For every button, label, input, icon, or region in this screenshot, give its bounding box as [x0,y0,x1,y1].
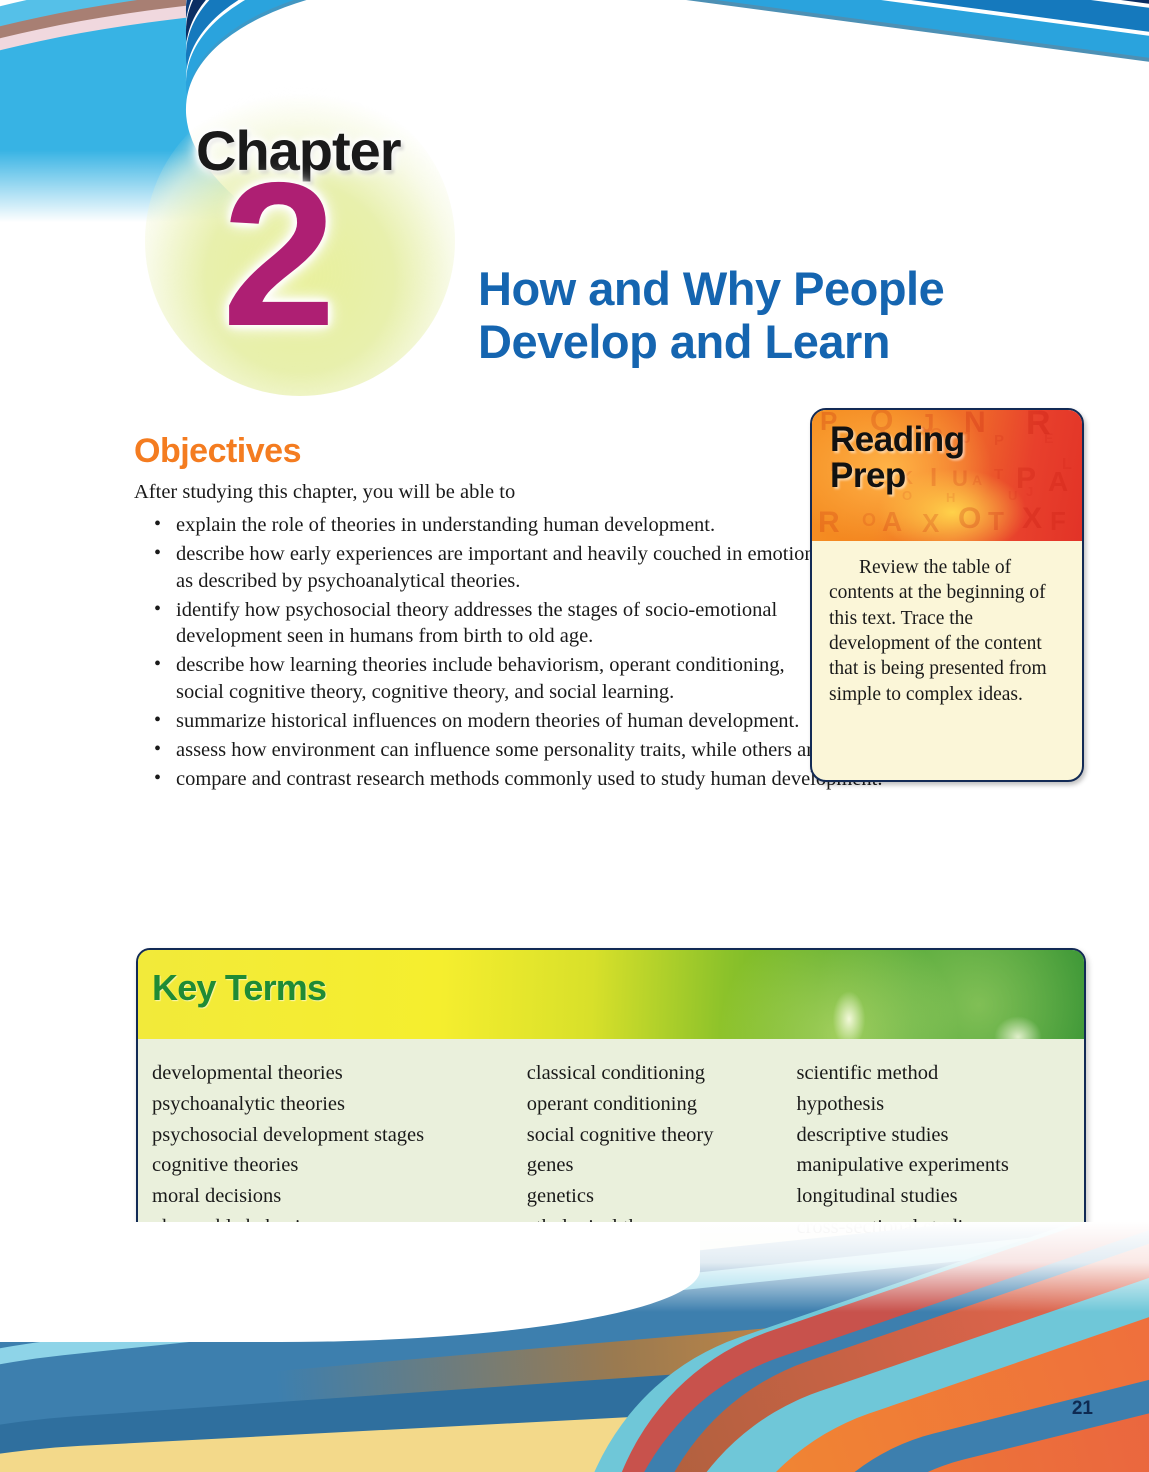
objective-item: • summarize historical influences on mod… [134,708,816,735]
decorative-letter: X [1022,502,1042,536]
bullet-icon: • [154,707,161,733]
bullet-icon: • [154,651,161,677]
decorative-letter: A [972,472,982,488]
objective-item: • explain the role of theories in unders… [134,512,816,539]
key-term: cognitive theories [152,1150,527,1181]
decorative-letter: E [1044,430,1053,446]
key-term: psychoanalytic theories [152,1089,527,1120]
key-terms-heading: Key Terms [152,967,326,1009]
key-term: classical conditioning [527,1058,797,1089]
bullet-icon: • [154,765,161,791]
chapter-number: 2 [222,152,332,357]
bottom-decorative-banner [0,1222,1149,1472]
reading-prep-title-line1: Reading [830,420,965,459]
objectives-intro: After studying this chapter, you will be… [134,481,515,504]
reading-prep-header: PQJNRxNOJPNzKIUATPAROAXOTXFEUJOHXL Readi… [812,410,1082,541]
objective-text: describe how learning theories include b… [176,654,785,703]
page-title: How and Why People Develop and Learn [478,263,1078,368]
reading-prep-body: Review the table of contents at the begi… [812,541,1082,707]
reading-prep-title: Reading Prep [830,422,965,494]
key-term: social cognitive theory [527,1120,797,1151]
decorative-letter: O [862,510,876,531]
decorative-letter: O [958,502,981,536]
decorative-letter: L [1062,456,1072,474]
objectives-heading: Objectives [134,432,301,471]
key-term: psychosocial development stages [152,1120,527,1151]
key-term: genetics [527,1181,797,1212]
decorative-letter: R [818,506,840,540]
bullet-icon: • [154,511,161,537]
decorative-letter: T [988,506,1004,537]
key-term: hypothesis [796,1089,1084,1120]
objective-item: • describe how early experiences are imp… [134,541,816,595]
bullet-icon: • [154,736,161,762]
objective-text: identify how psychosocial theory address… [176,599,777,648]
decorative-letter: A [882,506,902,538]
header-light-dot [832,990,866,1039]
key-term: genes [527,1150,797,1181]
page-number: 21 [1072,1398,1093,1420]
decorative-letter: P [994,432,1004,449]
objective-text: summarize historical influences on moder… [176,710,799,732]
decorative-letter: X [922,508,939,539]
decorative-letter: F [1050,506,1066,537]
objective-item: • describe how learning theories include… [134,652,816,706]
reading-prep-box: PQJNRxNOJPNzKIUATPAROAXOTXFEUJOHXL Readi… [810,408,1084,782]
key-term: longitudinal studies [796,1181,1084,1212]
reading-prep-title-line2: Prep [830,456,906,495]
objective-text: explain the role of theories in understa… [176,514,715,536]
objective-item: • identify how psychosocial theory addre… [134,597,816,651]
key-term: scientific method [796,1058,1084,1089]
decorative-letter: U [1008,488,1017,503]
key-terms-header: Key Terms [138,950,1084,1039]
decorative-letter: J [1026,484,1033,499]
decorative-letter: T [994,466,1003,483]
objective-text: describe how early experiences are impor… [176,543,815,592]
footer-fade-mask [0,1222,1149,1312]
objective-text: compare and contrast research methods co… [176,768,883,790]
key-term: moral decisions [152,1181,527,1212]
key-term: descriptive studies [796,1120,1084,1151]
bullet-icon: • [154,596,161,622]
key-term: manipulative experiments [796,1150,1084,1181]
key-term: operant conditioning [527,1089,797,1120]
key-term: developmental theories [152,1058,527,1089]
bullet-icon: • [154,540,161,566]
